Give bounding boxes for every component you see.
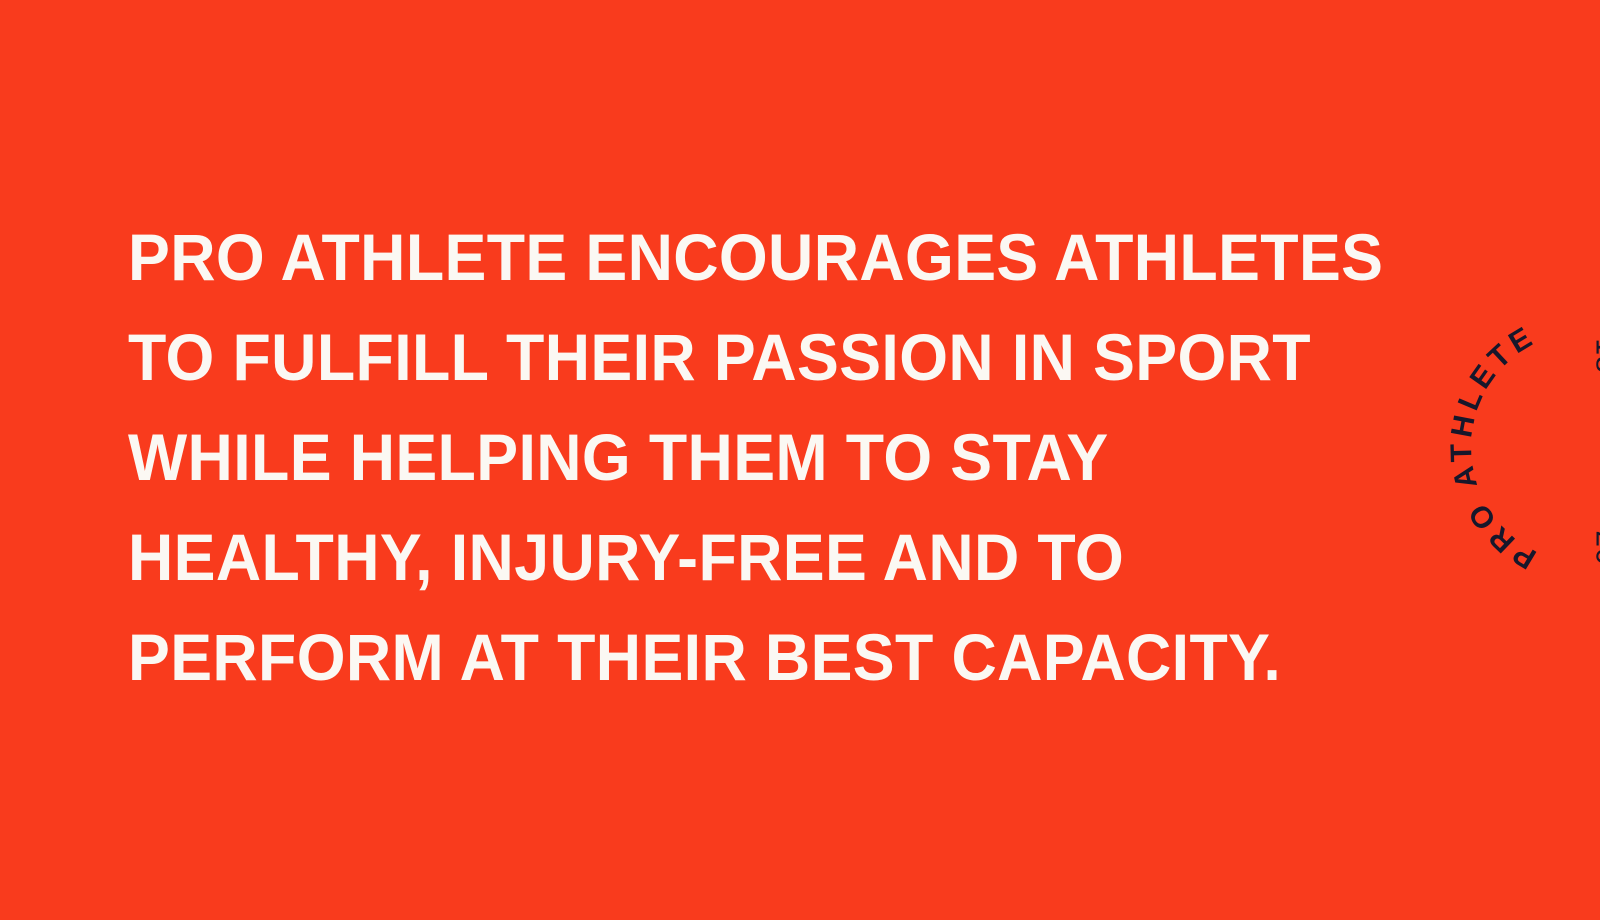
headline-line-2: TO FULFILL THEIR PASSION IN SPORT bbox=[128, 307, 1287, 407]
headline-line-1: PRO ATHLETE ENCOURAGES ATHLETES bbox=[128, 207, 1287, 307]
poster-canvas: PRO ATHLETE ENCOURAGES ATHLETES TO FULFI… bbox=[0, 0, 1600, 920]
badge-arc-textpath: PRO ATHLETE bbox=[1445, 319, 1542, 575]
pro-athlete-badge: PRO ATHLETE 18 20 bbox=[1404, 300, 1600, 600]
badge-year-top: 18 bbox=[1590, 338, 1600, 373]
headline-block: PRO ATHLETE ENCOURAGES ATHLETES TO FULFI… bbox=[128, 207, 1348, 707]
headline-line-3: WHILE HELPING THEM TO STAY bbox=[128, 407, 1287, 507]
badge-arc-label: PRO ATHLETE bbox=[1445, 319, 1542, 575]
headline-line-5: PERFORM AT THEIR BEST CAPACITY. bbox=[128, 607, 1287, 707]
badge-year-bottom: 20 bbox=[1590, 530, 1600, 565]
headline-line-4: HEALTHY, INJURY-FREE AND TO bbox=[128, 507, 1287, 607]
